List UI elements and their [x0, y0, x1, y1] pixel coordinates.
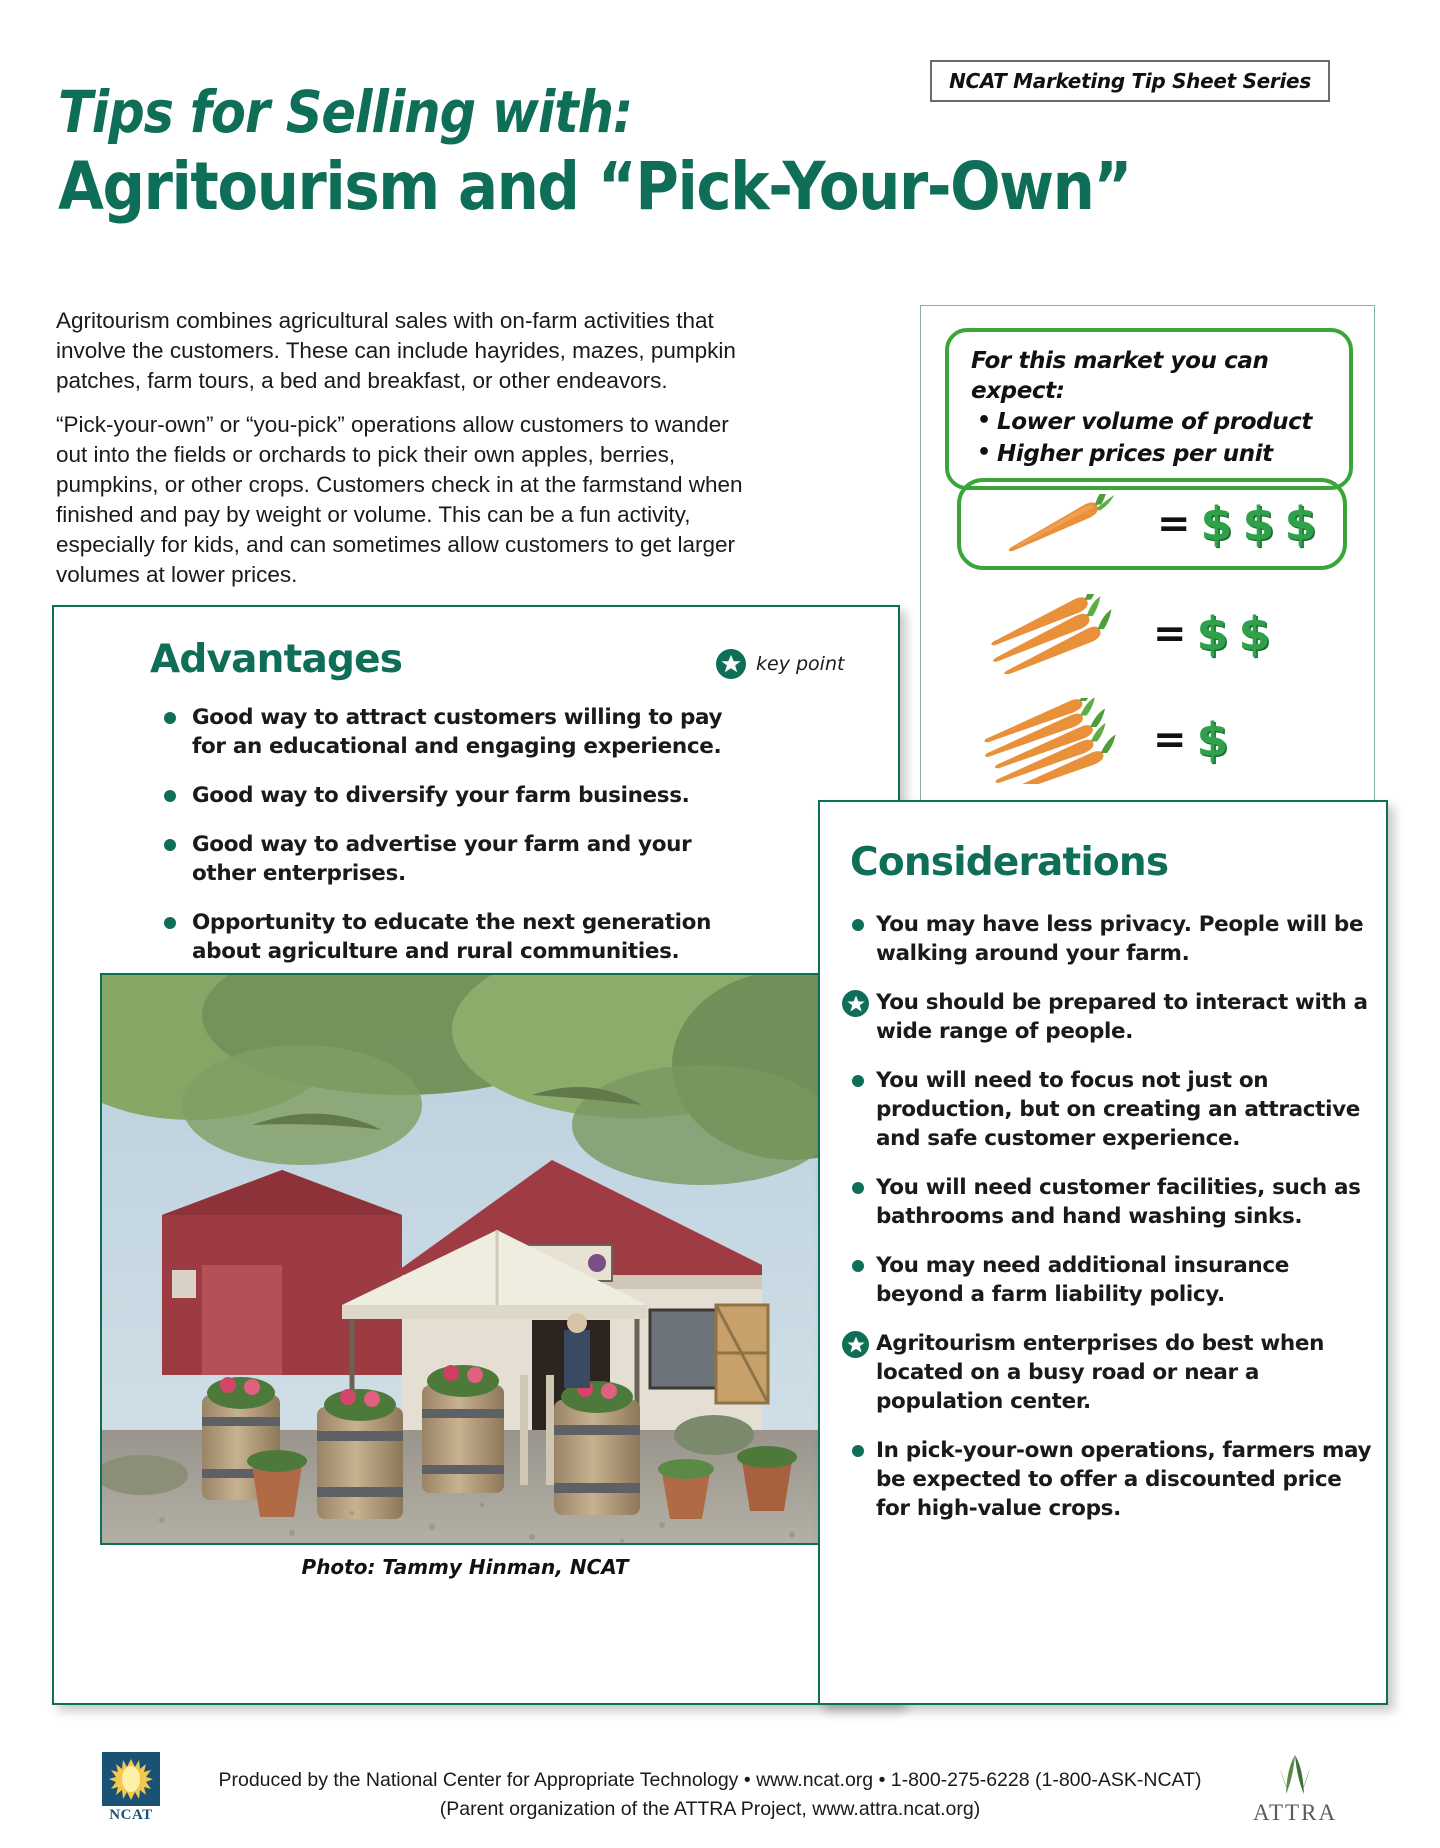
- footer-divider: [0, 1745, 1440, 1746]
- list-item: You will need to focus not just on produ…: [832, 1066, 1376, 1153]
- equals-symbol: =: [1157, 501, 1191, 547]
- photo-caption: Photo: Tammy Hinman, NCAT: [100, 1555, 830, 1579]
- list-item-key-point: You should be prepared to interact with …: [832, 988, 1376, 1046]
- intro-paragraph-1: Agritourism combines agricultural sales …: [56, 306, 746, 396]
- equals-symbol: =: [1153, 611, 1187, 657]
- list-item-text: Agritourism enterprises do best when loc…: [876, 1331, 1324, 1414]
- dollar-icon: $: [1197, 713, 1229, 767]
- attra-logo-label: ATTRA: [1253, 1800, 1337, 1826]
- ncat-sun-icon: [102, 1752, 160, 1806]
- footer-line-2: (Parent organization of the ATTRA Projec…: [180, 1795, 1240, 1824]
- list-item: Good way to attract customers willing to…: [160, 703, 760, 761]
- expect-item-1: Lower volume of product: [971, 406, 1331, 438]
- list-item: Opportunity to educate the next generati…: [160, 908, 760, 966]
- list-item: You will need customer facilities, such …: [832, 1173, 1376, 1231]
- advantages-panel: Advantages key point Good way to attract…: [52, 605, 900, 1705]
- star-icon: [842, 1331, 869, 1358]
- sun-icon: [109, 1758, 153, 1800]
- considerations-panel: Considerations You may have less privacy…: [818, 800, 1388, 1705]
- photo-illustration: [102, 975, 830, 1545]
- key-point-label: key point: [756, 653, 844, 675]
- star-icon: [716, 649, 746, 679]
- intro-text: Agritourism combines agricultural sales …: [56, 306, 746, 604]
- dollar-icon: $: [1197, 607, 1229, 661]
- equals-symbol: =: [1153, 717, 1187, 763]
- series-badge: NCAT Marketing Tip Sheet Series: [930, 60, 1330, 102]
- key-point-legend: key point: [716, 649, 844, 679]
- dollar-icon: $: [1285, 497, 1317, 551]
- page-title-line-2: Agritourism and “Pick-Your-Own”: [58, 148, 1131, 225]
- dollar-icon: $: [1239, 607, 1271, 661]
- expect-title: For this market you can expect:: [971, 346, 1331, 406]
- carrot-icon: [993, 494, 1123, 552]
- carrot-group-2: [957, 588, 1149, 680]
- advantages-title: Advantages: [150, 637, 402, 682]
- list-item: Good way to advertise your farm and your…: [160, 830, 760, 888]
- ncat-logo: NCAT: [100, 1752, 162, 1824]
- list-item: Good way to diversify your farm business…: [160, 781, 760, 810]
- dollar-icon: $: [1201, 497, 1233, 551]
- footer-text: Produced by the National Center for Appr…: [180, 1766, 1240, 1824]
- star-icon: [842, 990, 869, 1017]
- expect-card: For this market you can expect: Lower vo…: [945, 328, 1353, 490]
- market-expectations-box: For this market you can expect: Lower vo…: [920, 305, 1375, 802]
- expect-item-2: Higher prices per unit: [971, 438, 1331, 470]
- footer-line-1: Produced by the National Center for Appr…: [180, 1766, 1240, 1795]
- carrot-group-1: [961, 478, 1153, 570]
- intro-paragraph-2: “Pick-your-own” or “you-pick” operations…: [56, 410, 746, 590]
- ratio-row-three-carrots: = $ $: [957, 588, 1347, 680]
- considerations-list: You may have less privacy. People will b…: [832, 910, 1376, 1543]
- ncat-logo-label: NCAT: [109, 1807, 152, 1824]
- ratio-row-single-carrot: = $ $ $: [957, 478, 1347, 570]
- dollar-icon: $: [1243, 497, 1275, 551]
- carrot-icon: [981, 594, 1141, 674]
- dollar-group-1: $ $ $: [1201, 497, 1317, 551]
- farm-stand-photo: [100, 973, 830, 1545]
- page-title-line-1: Tips for Selling with:: [58, 78, 632, 146]
- tip-sheet-page: NCAT Marketing Tip Sheet Series Tips for…: [0, 0, 1440, 1848]
- considerations-title: Considerations: [850, 840, 1168, 885]
- dollar-group-3: $: [1197, 713, 1229, 767]
- list-item: You may need additional insurance beyond…: [832, 1251, 1376, 1309]
- dollar-group-2: $ $: [1197, 607, 1271, 661]
- list-item-text: You should be prepared to interact with …: [876, 990, 1368, 1044]
- carrot-group-3: [957, 694, 1149, 786]
- list-item: In pick-your-own operations, farmers may…: [832, 1436, 1376, 1523]
- list-item-key-point: Agritourism enterprises do best when loc…: [832, 1329, 1376, 1416]
- attra-logo: ATTRA: [1240, 1752, 1350, 1828]
- list-item: You may have less privacy. People will b…: [832, 910, 1376, 968]
- attra-leaf-icon: [1272, 1752, 1318, 1798]
- carrot-icon: [975, 698, 1145, 784]
- ratio-row-five-carrots: = $: [957, 694, 1347, 786]
